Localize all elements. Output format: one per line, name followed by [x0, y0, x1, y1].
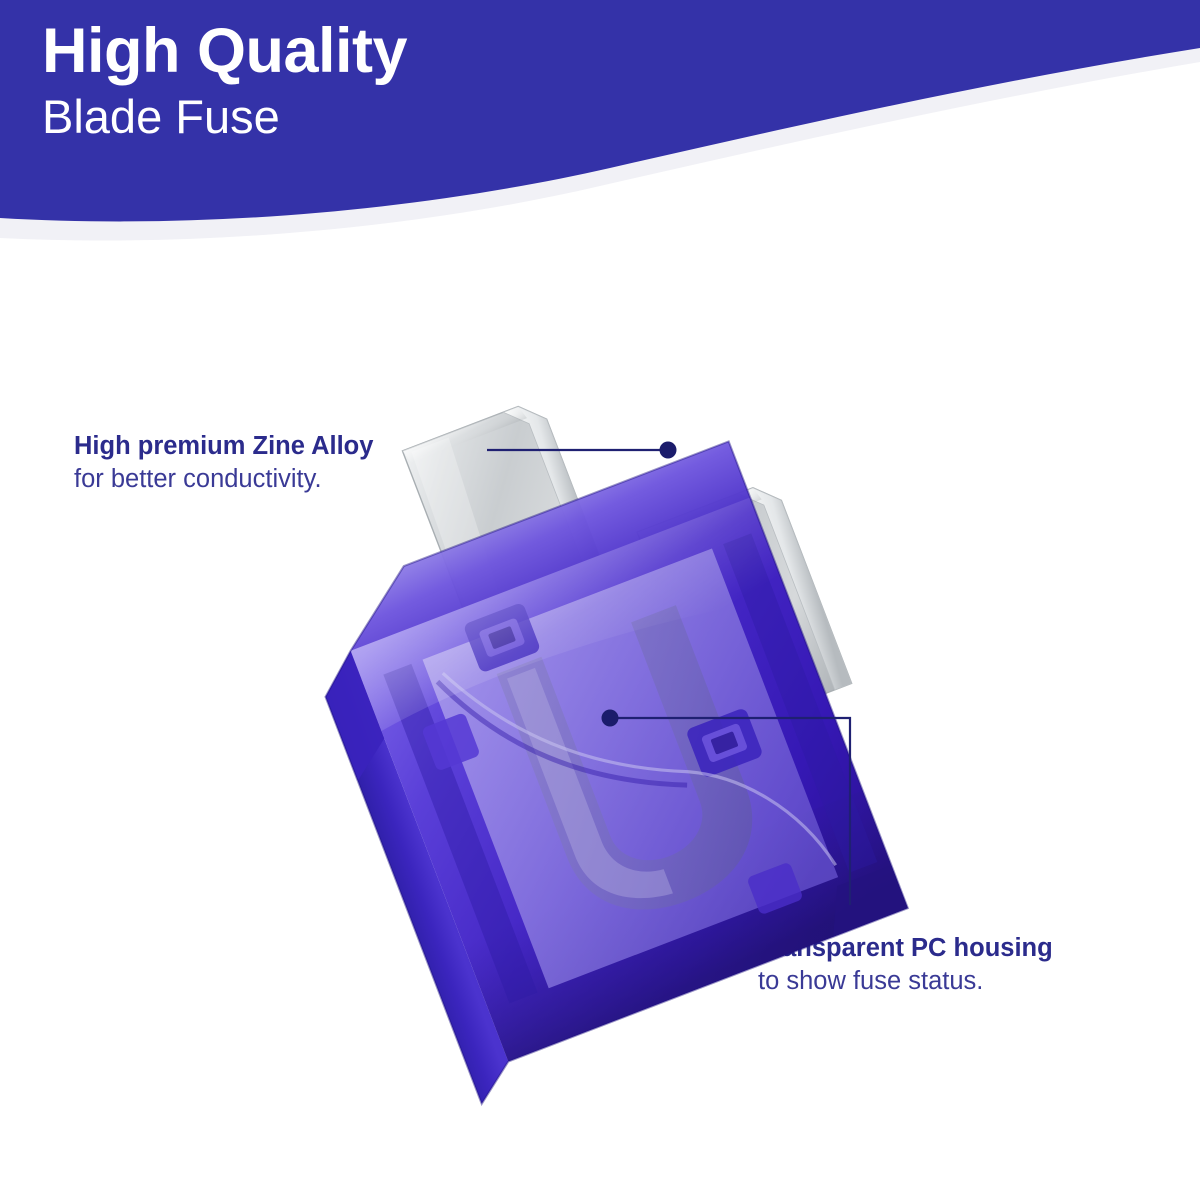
fuse-housing [292, 441, 919, 1104]
page-subtitle: Blade Fuse [42, 90, 407, 144]
fuse-assembly [253, 331, 945, 1104]
page-title: High Quality [42, 18, 407, 84]
header-text-group: High Quality Blade Fuse [42, 18, 407, 144]
blade-fuse-image [0, 0, 1200, 1200]
infographic-canvas: High Quality Blade Fuse [0, 0, 1200, 1200]
